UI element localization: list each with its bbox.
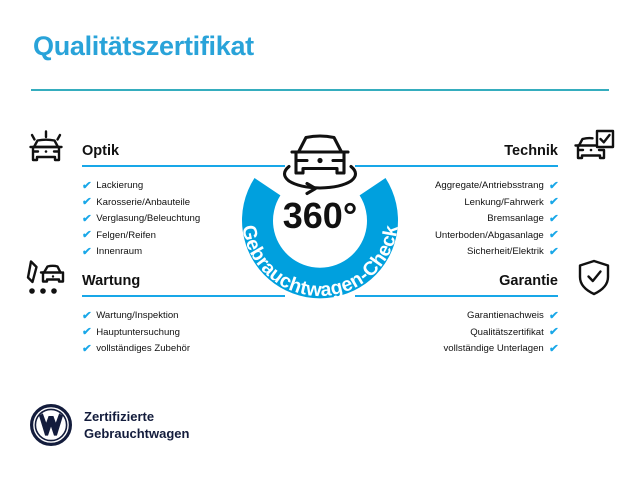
list-item-label: Garantienachweis	[467, 308, 544, 325]
badge-center-label: 360°	[283, 195, 357, 236]
check-icon: ✔	[548, 197, 559, 208]
check-icon: ✔	[548, 311, 559, 322]
list-item: ✔Hauptuntersuchung	[22, 325, 277, 342]
check-icon: ✔	[548, 327, 559, 338]
check-icon: ✔	[548, 214, 559, 225]
wrench-car-icon	[22, 256, 70, 300]
list-item-label: Hauptuntersuchung	[96, 325, 180, 342]
car-shine-icon	[22, 126, 70, 170]
list-item-label: Unterboden/Abgasanlage	[435, 228, 544, 245]
footer-brand-line1: Zertifizierte	[84, 408, 189, 425]
section-wartung-title: Wartung	[82, 273, 140, 289]
check-icon: ✔	[548, 230, 559, 241]
check-icon: ✔	[81, 327, 92, 338]
check-icon: ✔	[81, 311, 92, 322]
header-divider	[31, 89, 609, 91]
list-item-label: Felgen/Reifen	[96, 228, 156, 245]
page-title: Qualitätszertifikat	[33, 31, 254, 62]
list-item: ✔vollständiges Zubehör	[22, 341, 277, 358]
shield-check-icon	[570, 256, 618, 300]
360-check-badge: Gebrauchtwagen-Check 360°	[222, 110, 418, 315]
list-item-label: Verglasung/Beleuchtung	[96, 211, 200, 228]
list-item-label: vollständiges Zubehör	[96, 341, 190, 358]
check-icon: ✔	[81, 230, 92, 241]
footer-brand: Zertifizierte Gebrauchtwagen	[30, 404, 189, 446]
footer-brand-line2: Gebrauchtwagen	[84, 425, 189, 442]
volkswagen-logo	[30, 404, 72, 446]
list-item-label: Lackierung	[96, 178, 143, 195]
list-item: Qualitätszertifikat✔	[363, 325, 618, 342]
section-garantie-list: Garantienachweis✔ Qualitätszertifikat✔ v…	[363, 308, 618, 358]
check-icon: ✔	[548, 344, 559, 355]
check-icon: ✔	[81, 181, 92, 192]
list-item-label: Lenkung/Fahrwerk	[464, 195, 543, 212]
check-icon: ✔	[548, 181, 559, 192]
section-optik-title: Optik	[82, 143, 119, 159]
car-rotation-icon	[285, 136, 356, 194]
section-garantie-title: Garantie	[499, 273, 558, 289]
car-checkbox-icon	[570, 126, 618, 170]
section-technik-title: Technik	[504, 143, 558, 159]
section-wartung-list: ✔Wartung/Inspektion ✔Hauptuntersuchung ✔…	[22, 308, 277, 358]
check-icon: ✔	[81, 344, 92, 355]
list-item-label: Karosserie/Anbauteile	[96, 195, 190, 212]
check-icon: ✔	[81, 197, 92, 208]
list-item-label: Aggregate/Antriebsstrang	[435, 178, 544, 195]
list-item-label: Bremsanlage	[487, 211, 544, 228]
list-item-label: vollständige Unterlagen	[444, 341, 544, 358]
list-item-label: Wartung/Inspektion	[96, 308, 178, 325]
list-item: vollständige Unterlagen✔	[363, 341, 618, 358]
check-icon: ✔	[81, 214, 92, 225]
footer-brand-text: Zertifizierte Gebrauchtwagen	[84, 408, 189, 442]
list-item-label: Qualitätszertifikat	[470, 325, 544, 342]
